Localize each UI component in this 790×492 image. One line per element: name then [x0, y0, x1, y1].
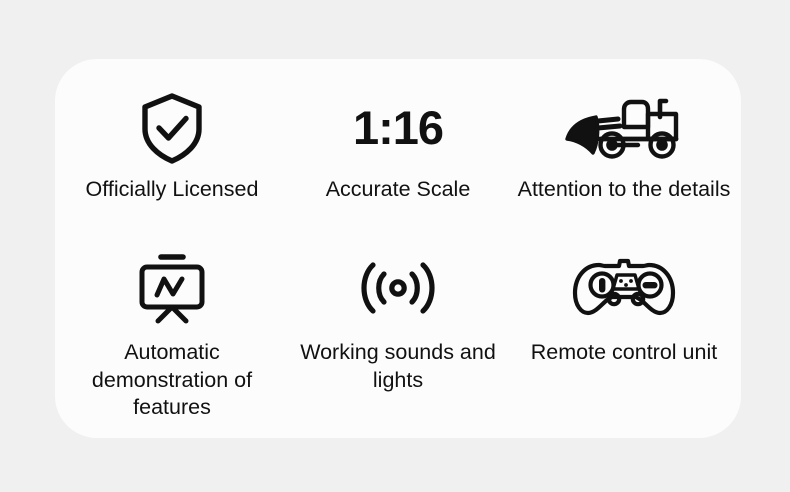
shield-check-icon — [133, 89, 211, 167]
feature-grid: Officially Licensed 1:16 Accurate Scale — [55, 59, 741, 438]
feature-item-officially-licensed: Officially Licensed — [59, 89, 285, 243]
presentation-chart-icon — [132, 251, 212, 325]
feature-label: Remote control unit — [531, 339, 717, 367]
feature-item-remote-control: Remote control unit — [511, 243, 737, 422]
feature-highlights-card: Officially Licensed 1:16 Accurate Scale — [55, 59, 741, 438]
feature-item-attention-to-details: Attention to the details — [511, 89, 737, 243]
scale-ratio-text: 1:16 — [353, 89, 443, 167]
feature-item-working-sounds: Working sounds and lights — [285, 243, 511, 422]
feature-label: Working sounds and lights — [287, 339, 509, 394]
feature-item-accurate-scale: 1:16 Accurate Scale — [285, 89, 511, 243]
feature-label: Officially Licensed — [86, 176, 259, 204]
feature-label: Accurate Scale — [326, 176, 471, 204]
sound-waves-icon — [355, 251, 441, 325]
feature-label: Attention to the details — [518, 176, 731, 204]
gamepad-icon — [571, 251, 677, 325]
feature-item-automatic-demonstration: Automatic demonstration of features — [59, 243, 285, 422]
snow-plow-truck-icon — [562, 89, 686, 167]
feature-label: Automatic demonstration of features — [61, 339, 283, 422]
scale-ratio-value: 1:16 — [353, 89, 443, 167]
